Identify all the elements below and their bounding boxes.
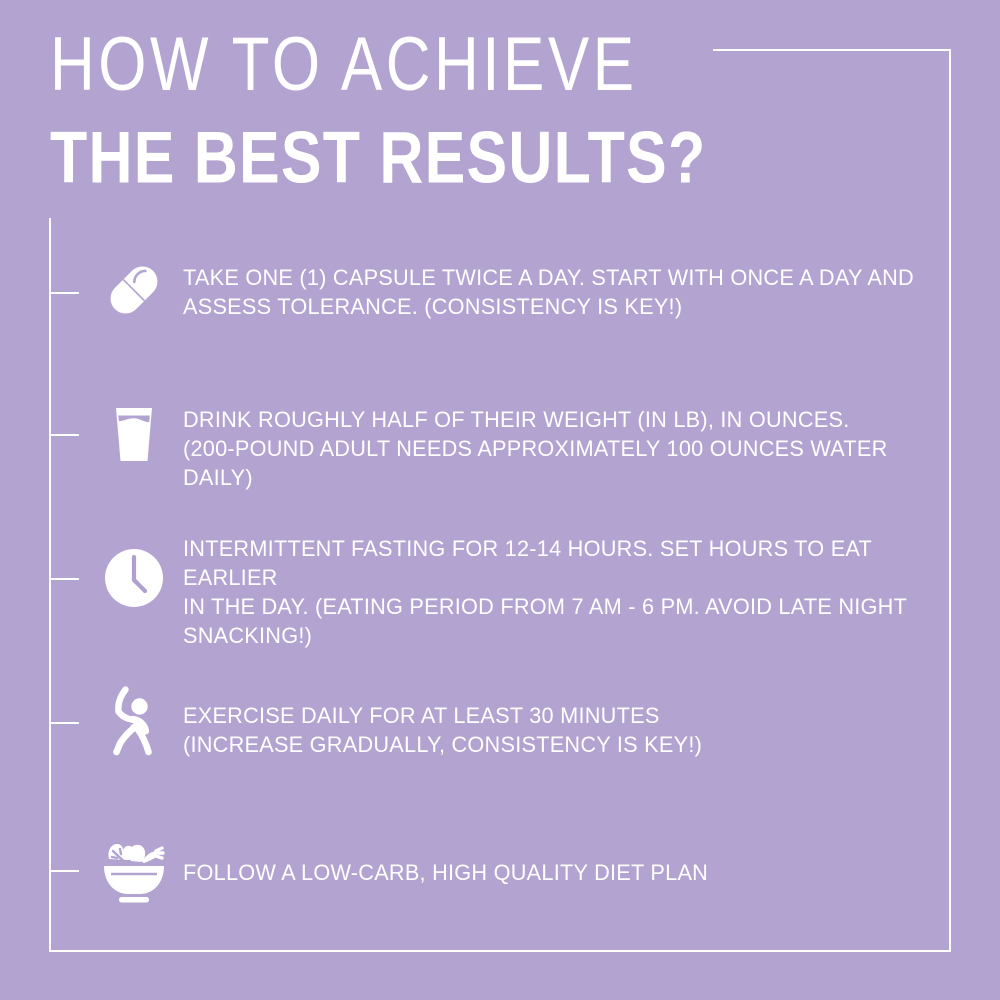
water-glass-icon [95, 394, 173, 472]
step-tick-mark [49, 578, 79, 580]
step-tick-mark [49, 434, 79, 436]
list-item-text: EXERCISE DAILY FOR AT LEAST 30 MINUTES (… [183, 701, 916, 759]
list-item: FOLLOW A LOW-CARB, HIGH QUALITY DIET PLA… [49, 828, 949, 908]
infographic-poster: HOW TO ACHIEVE THE BEST RESULTS? TAKE ON… [0, 0, 1000, 1000]
list-item-text: TAKE ONE (1) CAPSULE TWICE A DAY. START … [183, 263, 916, 321]
step-tick-mark [49, 722, 79, 724]
list-item-text: INTERMITTENT FASTING FOR 12-14 HOURS. SE… [183, 534, 916, 650]
list-item-text: DRINK ROUGHLY HALF OF THEIR WEIGHT (IN L… [183, 405, 916, 492]
exercise-figure-icon [95, 683, 173, 761]
steps-list: TAKE ONE (1) CAPSULE TWICE A DAY. START … [0, 0, 1000, 1000]
clock-icon [95, 539, 173, 617]
list-item: TAKE ONE (1) CAPSULE TWICE A DAY. START … [49, 248, 949, 338]
capsule-icon [95, 251, 173, 329]
list-item: EXERCISE DAILY FOR AT LEAST 30 MINUTES (… [49, 683, 949, 773]
list-item: DRINK ROUGHLY HALF OF THEIR WEIGHT (IN L… [49, 392, 949, 482]
list-item-text: FOLLOW A LOW-CARB, HIGH QUALITY DIET PLA… [183, 858, 916, 887]
salad-bowl-icon [95, 831, 173, 909]
step-tick-mark [49, 870, 79, 872]
step-tick-mark [49, 292, 79, 294]
list-item: INTERMITTENT FASTING FOR 12-14 HOURS. SE… [49, 534, 949, 634]
